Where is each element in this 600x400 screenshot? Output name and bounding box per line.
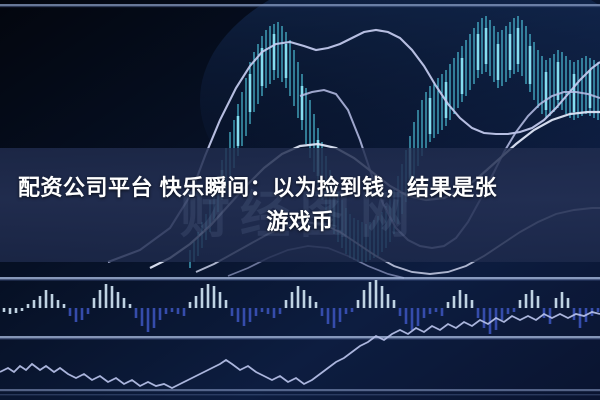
screenshot-root: 财经图网 配资公司平台 快乐瞬间：以为捡到钱，结果是张 游戏币 [0,0,600,400]
headline-text: 配资公司平台 快乐瞬间：以为捡到钱，结果是张 游戏币 [0,148,600,262]
headline-line-2: 游戏币 [266,205,334,239]
top-divider [0,4,600,7]
panel-separator-1 [0,277,600,281]
headline-line-1: 配资公司平台 快乐瞬间：以为捡到钱，结果是张 [14,171,497,205]
panel-separator-2 [0,336,600,340]
